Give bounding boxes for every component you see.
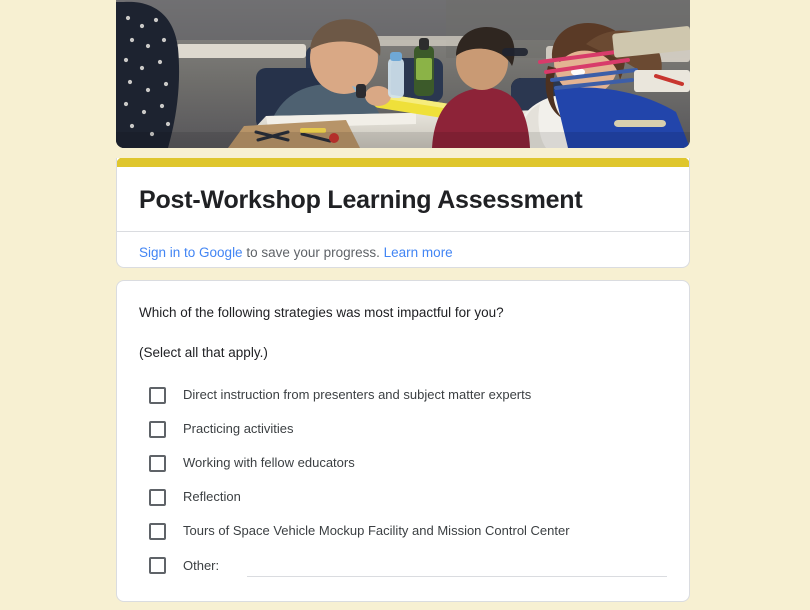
- google-form-page: Post-Workshop Learning Assessment Sign i…: [0, 0, 810, 610]
- checkbox-icon[interactable]: [149, 489, 166, 506]
- form-accent-bar: [116, 158, 690, 167]
- question-prompt: Which of the following strategies was mo…: [139, 303, 667, 323]
- checkbox-option-reflection[interactable]: Reflection: [139, 480, 667, 514]
- signin-notice: Sign in to Google to save your progress.…: [117, 232, 689, 269]
- other-text-input[interactable]: [247, 554, 667, 577]
- checkbox-icon[interactable]: [149, 387, 166, 404]
- checkbox-option-label: Tours of Space Vehicle Mockup Facility a…: [183, 523, 570, 540]
- form-title-card: Post-Workshop Learning Assessment Sign i…: [116, 158, 690, 268]
- banner-illustration: [116, 0, 690, 148]
- checkbox-option-tours[interactable]: Tours of Space Vehicle Mockup Facility a…: [139, 514, 667, 548]
- checkbox-option-label: Working with fellow educators: [183, 455, 355, 472]
- checkbox-icon[interactable]: [149, 421, 166, 438]
- other-option-label: Other:: [183, 558, 219, 573]
- page-title: Post-Workshop Learning Assessment: [117, 167, 689, 231]
- learn-more-link[interactable]: Learn more: [384, 245, 453, 260]
- checkbox-option-working-with-fellow-educators[interactable]: Working with fellow educators: [139, 446, 667, 480]
- checkbox-option-direct-instruction[interactable]: Direct instruction from presenters and s…: [139, 378, 667, 412]
- checkbox-option-label: Direct instruction from presenters and s…: [183, 387, 531, 404]
- sign-in-to-google-link[interactable]: Sign in to Google: [139, 245, 243, 260]
- checkbox-option-other[interactable]: Other:: [139, 548, 667, 582]
- checkbox-option-label: Reflection: [183, 489, 241, 506]
- signin-notice-text: to save your progress.: [243, 245, 384, 260]
- checkbox-option-list: Direct instruction from presenters and s…: [139, 378, 667, 582]
- checkbox-option-label: Practicing activities: [183, 421, 294, 438]
- checkbox-icon[interactable]: [149, 557, 166, 574]
- checkbox-icon[interactable]: [149, 523, 166, 540]
- checkbox-icon[interactable]: [149, 455, 166, 472]
- question-card: Which of the following strategies was mo…: [116, 280, 690, 602]
- checkbox-option-practicing-activities[interactable]: Practicing activities: [139, 412, 667, 446]
- form-header-image: [116, 0, 690, 148]
- question-instruction: (Select all that apply.): [139, 343, 667, 363]
